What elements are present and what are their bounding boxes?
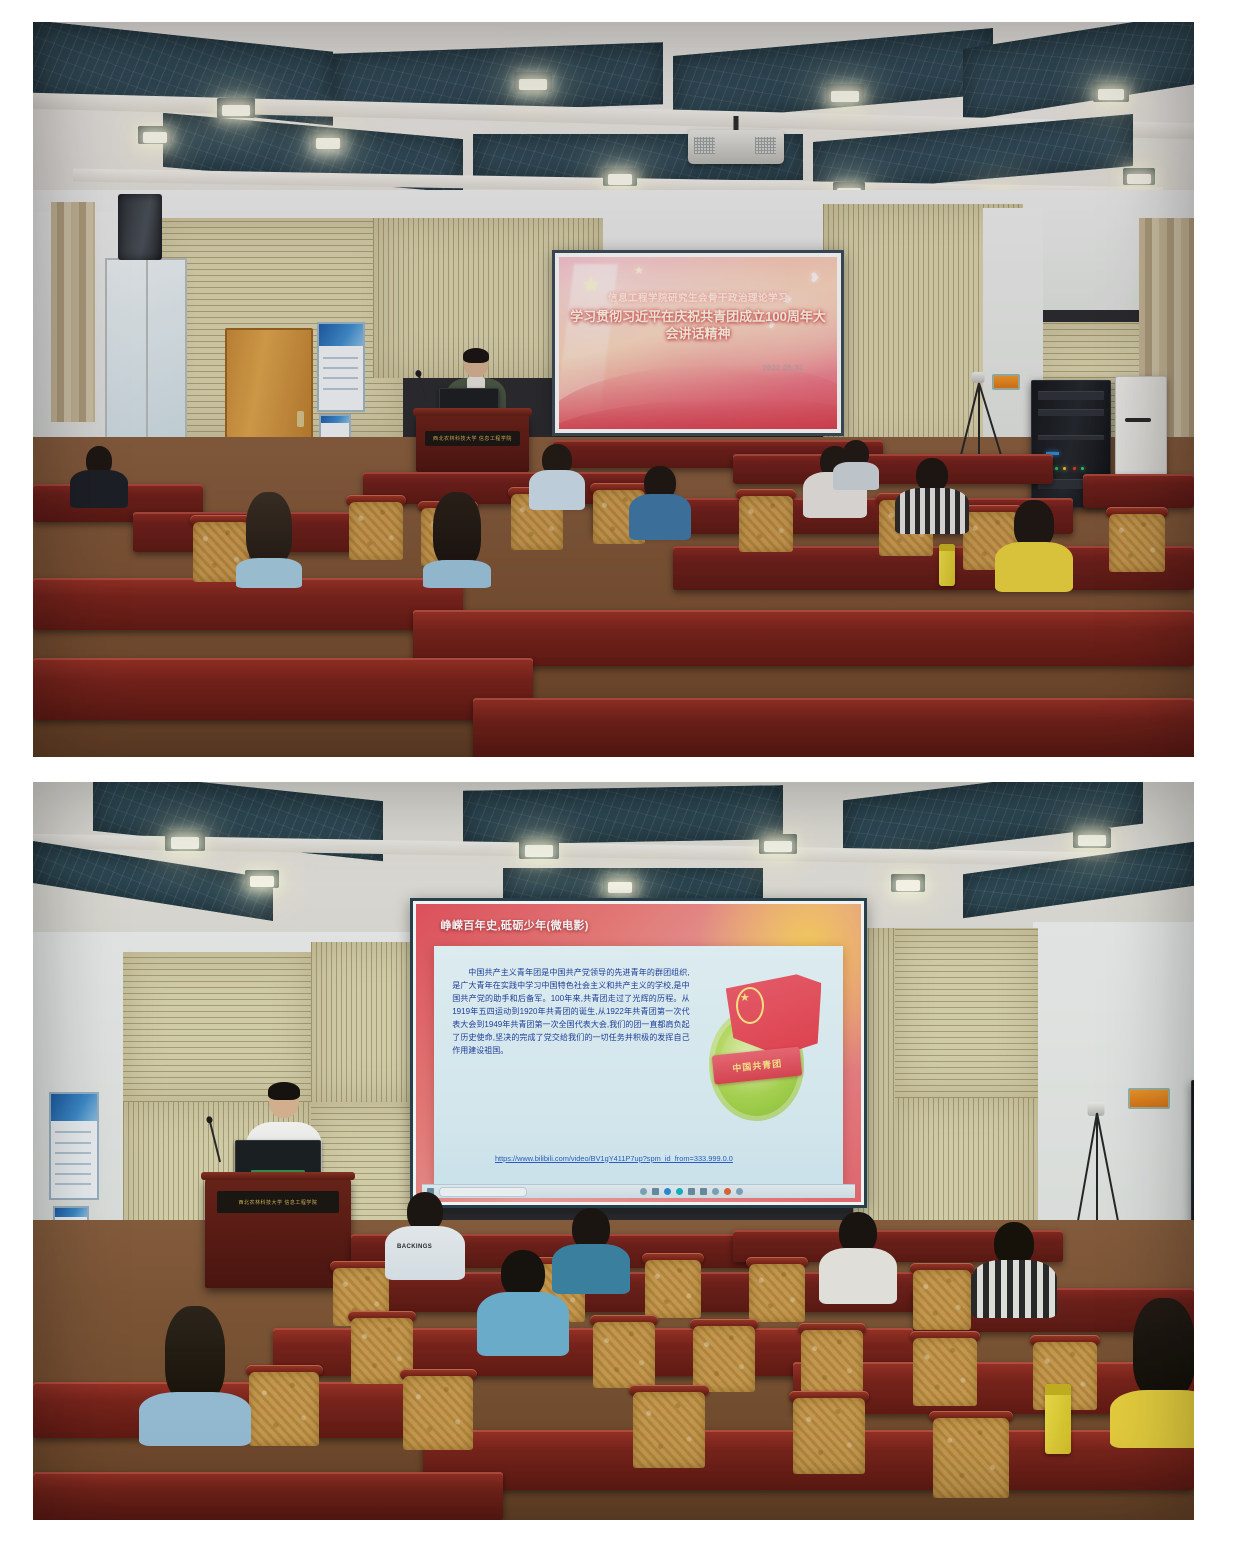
torso-yellow bbox=[995, 542, 1073, 592]
chair bbox=[793, 1398, 865, 1474]
ceiling-spotlight bbox=[245, 870, 279, 888]
ceiling-projector bbox=[688, 130, 784, 164]
torso bbox=[139, 1392, 251, 1446]
notice-board bbox=[317, 322, 365, 412]
head bbox=[433, 492, 481, 568]
projection-screen-top: ★ ★ ★ ❥ ❥ ❥ 信息工程学院研究生会骨干政治理论学习 学习贯彻习近平在庆… bbox=[552, 250, 844, 436]
audience-member bbox=[833, 440, 879, 490]
head bbox=[1133, 1298, 1194, 1398]
audience-member bbox=[421, 492, 493, 588]
chair bbox=[913, 1270, 971, 1330]
torso bbox=[477, 1292, 569, 1356]
notice-header bbox=[321, 416, 349, 423]
torso-yellow bbox=[1110, 1390, 1194, 1448]
menu-icon[interactable] bbox=[652, 1188, 659, 1195]
chair bbox=[913, 1338, 977, 1406]
yellow-thermos bbox=[1045, 1384, 1071, 1454]
rack-led bbox=[1081, 467, 1084, 470]
presenter-hair bbox=[268, 1082, 300, 1100]
podium-nameplate-text: 西北农林科技大学 信息工程学院 bbox=[433, 435, 512, 442]
desk-row-front bbox=[473, 698, 1194, 757]
rack-led bbox=[1055, 467, 1058, 470]
chair bbox=[403, 1376, 473, 1450]
refresh-icon[interactable] bbox=[640, 1188, 647, 1195]
chair-back bbox=[1109, 514, 1165, 572]
chair-back bbox=[913, 1338, 977, 1406]
chair-back bbox=[913, 1270, 971, 1330]
podium-bottom: 西北农林科技大学 信息工程学院 bbox=[205, 1178, 351, 1288]
rack-led bbox=[1063, 467, 1066, 470]
ac-vent bbox=[1125, 418, 1151, 422]
exit-sign bbox=[1128, 1088, 1170, 1109]
chair-back bbox=[793, 1398, 865, 1474]
torso bbox=[629, 494, 691, 540]
windows-taskbar[interactable] bbox=[422, 1184, 855, 1198]
head bbox=[916, 458, 948, 492]
chair-back bbox=[633, 1392, 705, 1468]
notice-header bbox=[55, 1208, 87, 1217]
chair-back bbox=[749, 1264, 805, 1322]
ceiling-spotlight bbox=[891, 874, 925, 892]
chair-back bbox=[645, 1260, 701, 1318]
audience-member bbox=[139, 1306, 251, 1446]
projector-vent bbox=[755, 137, 776, 153]
notice-line bbox=[323, 377, 358, 379]
audience-member bbox=[1109, 1298, 1194, 1448]
podium-nameplate: 西北农林科技大学 信息工程学院 bbox=[425, 431, 520, 446]
ceiling-spotlight bbox=[1093, 82, 1129, 102]
torso bbox=[819, 1248, 897, 1304]
ceiling-spotlight bbox=[311, 132, 345, 150]
torso bbox=[70, 470, 128, 508]
audience-member bbox=[819, 1212, 897, 1304]
wall-speaker bbox=[118, 194, 162, 260]
photo-page: ★ ★ ★ ❥ ❥ ❥ 信息工程学院研究生会骨干政治理论学习 学习贯彻习近平在庆… bbox=[0, 0, 1233, 1542]
podium-microphone bbox=[418, 375, 427, 401]
chart-icon[interactable] bbox=[700, 1188, 707, 1195]
acoustic-slat-wall bbox=[893, 928, 1038, 1098]
rack-unit bbox=[1038, 435, 1104, 440]
torso bbox=[833, 462, 879, 490]
podium-ledge bbox=[413, 408, 533, 416]
slide-subtitle-line: 学习贯彻习近平在庆祝共青团成立100周年大会讲话精神 bbox=[570, 309, 826, 342]
notice-line bbox=[55, 1163, 92, 1165]
podium-nameplate: 西北农林科技大学 信息工程学院 bbox=[217, 1191, 340, 1213]
audience-member bbox=[69, 446, 129, 508]
chair-back bbox=[933, 1418, 1009, 1498]
folder-icon[interactable] bbox=[676, 1188, 683, 1195]
chair bbox=[633, 1392, 705, 1468]
ceiling-spotlight bbox=[1073, 828, 1111, 848]
rack-unit bbox=[1038, 409, 1104, 416]
desk-row bbox=[1083, 474, 1194, 508]
notice-board bbox=[49, 1092, 99, 1200]
grid-icon[interactable] bbox=[688, 1188, 695, 1195]
ceiling-spotlight bbox=[603, 168, 637, 186]
head bbox=[165, 1306, 225, 1402]
chair-back bbox=[349, 502, 403, 560]
slide-card: 中国共产主义青年团是中国共产党领导的先进青年的群团组织,是广大青年在实践中学习中… bbox=[434, 946, 843, 1184]
chair bbox=[645, 1260, 701, 1318]
acoustic-slat-wall bbox=[123, 952, 313, 1102]
photo-bottom: 峥嵘百年史,砥砺少年(微电影) 中国共产主义青年团是中国共产党领导的先进青年的群… bbox=[33, 782, 1194, 1520]
audience-member bbox=[529, 444, 585, 510]
torso-striped bbox=[895, 488, 969, 534]
podium-nameplate-text: 西北农林科技大学 信息工程学院 bbox=[239, 1199, 318, 1206]
chair bbox=[249, 1372, 319, 1446]
ceiling-spotlight bbox=[165, 830, 205, 851]
yellow-thermos bbox=[939, 544, 955, 586]
exit-sign bbox=[992, 374, 1020, 390]
window-left bbox=[105, 258, 187, 452]
slide-title: ★ ★ ★ ❥ ❥ ❥ 信息工程学院研究生会骨干政治理论学习 学习贯彻习近平在庆… bbox=[559, 257, 837, 429]
notice-line bbox=[323, 388, 358, 390]
dove-icon: ❥ bbox=[809, 271, 820, 284]
ceiling-spotlight bbox=[217, 98, 255, 118]
projection-screen-bottom: 峥嵘百年史,砥砺少年(微电影) 中国共产主义青年团是中国共产党领导的先进青年的群… bbox=[410, 898, 867, 1208]
slide-title-line: 信息工程学院研究生会骨干政治理论学习 bbox=[576, 290, 821, 304]
rack-led bbox=[1073, 467, 1076, 470]
ceiling-acoustic-panel bbox=[463, 785, 783, 845]
audience-member bbox=[233, 492, 305, 588]
presenter-hair bbox=[463, 348, 489, 363]
slide-date: 2022.05.31 bbox=[763, 365, 804, 372]
head bbox=[246, 492, 292, 566]
notice-line bbox=[55, 1142, 92, 1144]
chair-back bbox=[249, 1372, 319, 1446]
podium-ledge bbox=[201, 1172, 356, 1180]
desk-row-front bbox=[33, 658, 533, 720]
chair bbox=[801, 1330, 863, 1396]
torso-striped bbox=[971, 1260, 1057, 1318]
desk-row bbox=[733, 454, 1053, 484]
notice-line bbox=[55, 1152, 92, 1154]
torso bbox=[423, 560, 491, 588]
star-icon: ★ bbox=[634, 266, 644, 277]
chair bbox=[349, 502, 403, 560]
audience-member-yellow bbox=[995, 500, 1073, 592]
slide-body-text: 中国共产主义青年团是中国共产党领导的先进青年的群团组织,是广大青年在实践中学习中… bbox=[452, 967, 689, 1058]
slide-content: 峥嵘百年史,砥砺少年(微电影) 中国共产主义青年团是中国共产党领导的先进青年的群… bbox=[416, 904, 861, 1202]
chair bbox=[593, 1322, 655, 1388]
notice-line bbox=[323, 357, 358, 359]
audience-member bbox=[477, 1250, 569, 1356]
ceiling-spotlight bbox=[519, 838, 559, 859]
chair-back bbox=[801, 1330, 863, 1396]
notice-line bbox=[55, 1173, 92, 1175]
shirt-text: BACKINGS bbox=[397, 1244, 432, 1250]
rack-unit bbox=[1038, 391, 1104, 400]
notice-line bbox=[55, 1131, 92, 1133]
star-icon: ★ bbox=[740, 993, 750, 1004]
notice-header bbox=[51, 1094, 97, 1121]
audience-member bbox=[629, 466, 691, 540]
desk-row-front bbox=[33, 1472, 503, 1520]
circle-icon[interactable] bbox=[736, 1188, 743, 1195]
camera-icon bbox=[972, 372, 985, 383]
chair bbox=[749, 1264, 805, 1322]
chair-back bbox=[739, 496, 793, 552]
record-icon[interactable] bbox=[724, 1188, 731, 1195]
head bbox=[1014, 500, 1054, 548]
edge-icon[interactable] bbox=[664, 1188, 671, 1195]
torso bbox=[236, 558, 302, 588]
podium-top: 西北农林科技大学 信息工程学院 bbox=[416, 414, 529, 472]
door-knob[interactable] bbox=[297, 411, 304, 427]
photo-top: ★ ★ ★ ❥ ❥ ❥ 信息工程学院研究生会骨干政治理论学习 学习贯彻习近平在庆… bbox=[33, 22, 1194, 757]
ceiling-spotlight bbox=[1123, 168, 1155, 185]
chair-back bbox=[593, 1322, 655, 1388]
notice-line bbox=[55, 1183, 92, 1185]
ceiling-spotlight bbox=[514, 72, 552, 92]
ceiling-spotlight bbox=[138, 126, 172, 144]
ceiling-spotlight bbox=[826, 84, 864, 104]
chair bbox=[1109, 514, 1165, 572]
torso bbox=[385, 1226, 465, 1280]
torso bbox=[529, 470, 585, 510]
audience-member-striped bbox=[971, 1222, 1057, 1318]
head bbox=[501, 1250, 545, 1298]
ceiling-spotlight bbox=[603, 876, 637, 894]
ceiling-spotlight bbox=[759, 834, 797, 854]
chair-back bbox=[403, 1376, 473, 1450]
audience-member-striped bbox=[895, 458, 969, 534]
notice-line bbox=[323, 367, 358, 369]
communist-youth-league-emblem: ★ 中国共青团 bbox=[706, 974, 829, 1127]
projector-vent bbox=[694, 137, 715, 153]
chair bbox=[739, 496, 793, 552]
slide-video-link[interactable]: https://www.bilibili.com/video/BV1gY411P… bbox=[458, 1154, 769, 1163]
chair-back bbox=[693, 1326, 755, 1392]
audience-member-backings: BACKINGS bbox=[385, 1192, 465, 1280]
chair bbox=[933, 1418, 1009, 1498]
notice-header bbox=[319, 324, 363, 346]
curtain-left bbox=[51, 202, 95, 422]
chair bbox=[693, 1326, 755, 1392]
person-icon[interactable] bbox=[712, 1188, 719, 1195]
slide-heading: 峥嵘百年史,砥砺少年(微电影) bbox=[440, 917, 588, 933]
emblem-banner-text: 中国共青团 bbox=[732, 1056, 783, 1074]
